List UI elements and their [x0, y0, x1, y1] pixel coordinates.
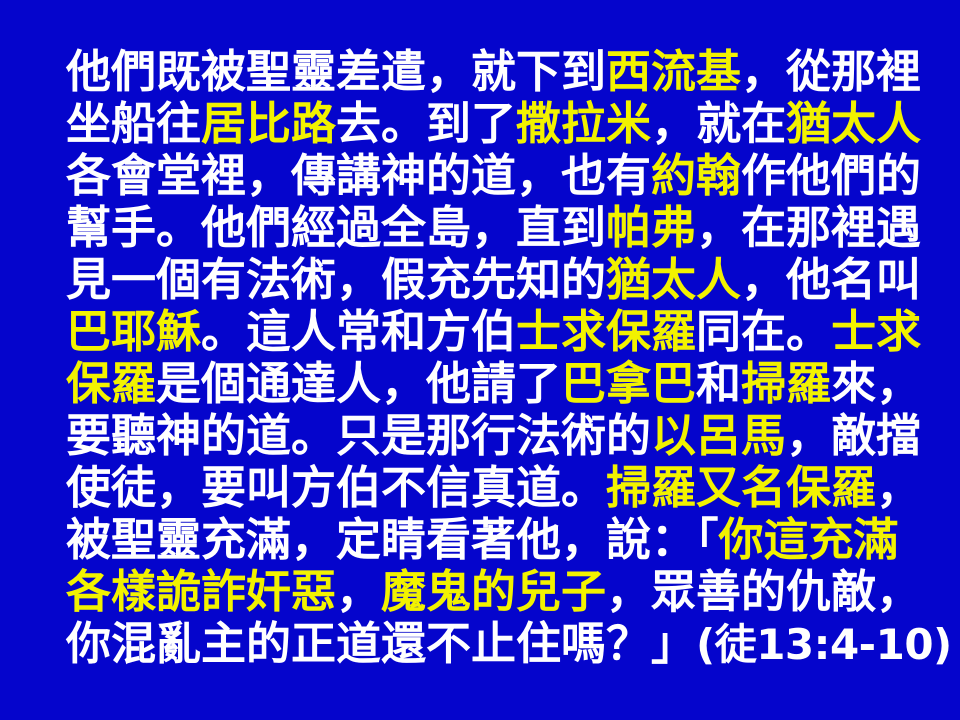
- verse-text: 幫手。他們經過全島，直到: [66, 201, 606, 254]
- highlighted-term: 掃羅: [741, 357, 831, 410]
- verse-text: 來，: [831, 357, 921, 410]
- highlighted-term: 約翰: [651, 149, 741, 202]
- verse-text: 你混亂主的正道還不止住嗎？」: [66, 617, 696, 670]
- verse-text: ，: [336, 565, 381, 618]
- verse-line: 要聽神的道。只是那行法術的以呂馬，敵擋: [66, 410, 906, 462]
- verse-text: 坐船往: [66, 97, 201, 150]
- highlighted-term: 士求: [831, 305, 921, 358]
- highlighted-term: 掃羅又名保羅: [606, 461, 876, 514]
- verse-text: 和: [696, 357, 741, 410]
- verse-text: ，就在: [651, 97, 786, 150]
- verse-text: ，從那裡: [741, 45, 921, 98]
- verse-text: ，他名叫: [741, 253, 921, 306]
- verse-text: 去。到了: [336, 97, 516, 150]
- verse-line: 坐船往居比路去。到了撒拉米，就在猶太人: [66, 98, 906, 150]
- scripture-reference: (徒13:4-10): [696, 620, 952, 669]
- highlighted-term: 各樣詭詐奸惡: [66, 565, 336, 618]
- verse-text: 。這人常和方伯: [201, 305, 516, 358]
- highlighted-term: 巴拿巴: [561, 357, 696, 410]
- highlighted-term: 西流基: [606, 45, 741, 98]
- verse-text: ，: [876, 461, 921, 514]
- verse-line: 保羅是個通達人，他請了巴拿巴和掃羅來，: [66, 358, 906, 410]
- verse-text: 同在。: [696, 305, 831, 358]
- verse-text: 各會堂裡，傳講神的道，也有: [66, 149, 651, 202]
- verse-line: 各樣詭詐奸惡，魔鬼的兒子，眾善的仇敵，: [66, 566, 906, 618]
- scripture-slide: 他們既被聖靈差遣，就下到西流基，從那裡坐船往居比路去。到了撒拉米，就在猶太人各會…: [0, 0, 960, 720]
- highlighted-term: 保羅: [66, 357, 156, 410]
- highlighted-term: 帕弗: [606, 201, 696, 254]
- verse-text: 見一個有法術，假充先知的: [66, 253, 606, 306]
- verse-text: 他們既被聖靈差遣，就下到: [66, 45, 606, 98]
- highlighted-term: 撒拉米: [516, 97, 651, 150]
- highlighted-term: 魔鬼的兒子: [381, 565, 606, 618]
- highlighted-term: 巴耶穌: [66, 305, 201, 358]
- verse-line: 使徒，要叫方伯不信真道。掃羅又名保羅，: [66, 462, 906, 514]
- verse-line: 巴耶穌。這人常和方伯士求保羅同在。士求: [66, 306, 906, 358]
- verse-text: ，在那裡遇: [696, 201, 921, 254]
- verse-line: 各會堂裡，傳講神的道，也有約翰作他們的: [66, 150, 906, 202]
- verse-line: 被聖靈充滿，定睛看著他，說：「你這充滿: [66, 514, 906, 566]
- verse-line: 幫手。他們經過全島，直到帕弗，在那裡遇: [66, 202, 906, 254]
- verse-text: 使徒，要叫方伯不信真道。: [66, 461, 606, 514]
- verse-line: 你混亂主的正道還不止住嗎？」(徒13:4-10): [66, 618, 906, 670]
- verse-text: 要聽神的道。只是那行法術的: [66, 409, 651, 462]
- verse-text: ，敵擋: [786, 409, 921, 462]
- verse-line: 見一個有法術，假充先知的猶太人，他名叫: [66, 254, 906, 306]
- highlighted-term: 猶太人: [786, 97, 921, 150]
- verse-text: 作他們的: [741, 149, 921, 202]
- verse-text: 被聖靈充滿，定睛看著他，說：「: [66, 513, 719, 566]
- verse-text: 是個通達人，他請了: [156, 357, 561, 410]
- highlighted-term: 士求保羅: [516, 305, 696, 358]
- highlighted-term: 猶太人: [606, 253, 741, 306]
- highlighted-term: 居比路: [201, 97, 336, 150]
- verse-line: 他們既被聖靈差遣，就下到西流基，從那裡: [66, 46, 906, 98]
- highlighted-term: 以呂馬: [651, 409, 786, 462]
- verse-text-block: 他們既被聖靈差遣，就下到西流基，從那裡坐船往居比路去。到了撒拉米，就在猶太人各會…: [66, 46, 906, 670]
- verse-text: ，眾善的仇敵，: [606, 565, 921, 618]
- highlighted-term: 你這充滿: [719, 513, 899, 566]
